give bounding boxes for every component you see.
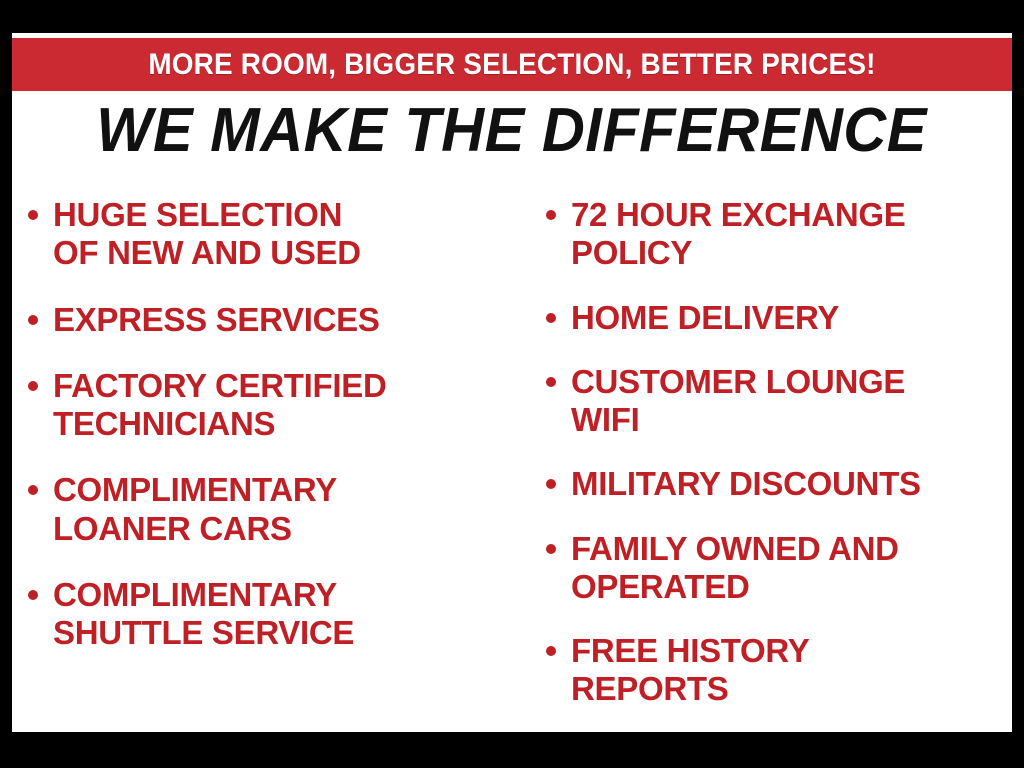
list-item: FACTORY CERTIFIED TECHNICIANS <box>28 367 522 444</box>
list-item-label: HUGE SELECTION OF NEW AND USED <box>53 196 361 273</box>
feature-column-left: HUGE SELECTION OF NEW AND USED EXPRESS S… <box>12 196 522 680</box>
feature-column-right: 72 HOUR EXCHANGE POLICY HOME DELIVERY CU… <box>522 196 1012 735</box>
feature-columns: HUGE SELECTION OF NEW AND USED EXPRESS S… <box>12 196 1012 716</box>
bullet-dot-icon <box>28 590 38 600</box>
list-item-label: CUSTOMER LOUNGE WIFI <box>571 363 905 440</box>
list-item-label: 72 HOUR EXCHANGE POLICY <box>571 196 905 273</box>
bullet-dot-icon <box>28 485 38 495</box>
list-item: COMPLIMENTARY LOANER CARS <box>28 471 522 548</box>
list-item: 72 HOUR EXCHANGE POLICY <box>546 196 1012 273</box>
bullet-dot-icon <box>28 315 38 325</box>
bullet-dot-icon <box>28 210 38 220</box>
bullet-dot-icon <box>546 646 556 656</box>
list-item-label: FREE HISTORY REPORTS <box>571 632 809 709</box>
list-item-label: MILITARY DISCOUNTS <box>571 465 921 503</box>
list-item-label: EXPRESS SERVICES <box>53 301 380 339</box>
list-item: FREE HISTORY REPORTS <box>546 632 1012 709</box>
banner-text: MORE ROOM, BIGGER SELECTION, BETTER PRIC… <box>148 50 875 80</box>
list-item-label: COMPLIMENTARY LOANER CARS <box>53 471 337 548</box>
list-item-label: FACTORY CERTIFIED TECHNICIANS <box>53 367 387 444</box>
headline-banner: MORE ROOM, BIGGER SELECTION, BETTER PRIC… <box>12 38 1012 91</box>
list-item-label: HOME DELIVERY <box>571 299 839 337</box>
bullet-dot-icon <box>546 210 556 220</box>
bullet-dot-icon <box>546 544 556 554</box>
list-item: HOME DELIVERY <box>546 299 1012 337</box>
page-title: WE MAKE THE DIFFERENCE <box>12 100 1012 162</box>
list-item: MILITARY DISCOUNTS <box>546 465 1012 503</box>
headline-text: WE MAKE THE DIFFERENCE <box>97 100 928 162</box>
bullet-dot-icon <box>546 313 556 323</box>
dealership-promo-poster: MORE ROOM, BIGGER SELECTION, BETTER PRIC… <box>0 0 1024 768</box>
bullet-dot-icon <box>546 479 556 489</box>
list-item: HUGE SELECTION OF NEW AND USED <box>28 196 522 273</box>
list-item-label: COMPLIMENTARY SHUTTLE SERVICE <box>53 576 354 653</box>
list-item: COMPLIMENTARY SHUTTLE SERVICE <box>28 576 522 653</box>
list-item-label: FAMILY OWNED AND OPERATED <box>571 530 899 607</box>
list-item: EXPRESS SERVICES <box>28 301 522 339</box>
list-item: CUSTOMER LOUNGE WIFI <box>546 363 1012 440</box>
list-item: FAMILY OWNED AND OPERATED <box>546 530 1012 607</box>
bullet-dot-icon <box>28 381 38 391</box>
bullet-dot-icon <box>546 377 556 387</box>
